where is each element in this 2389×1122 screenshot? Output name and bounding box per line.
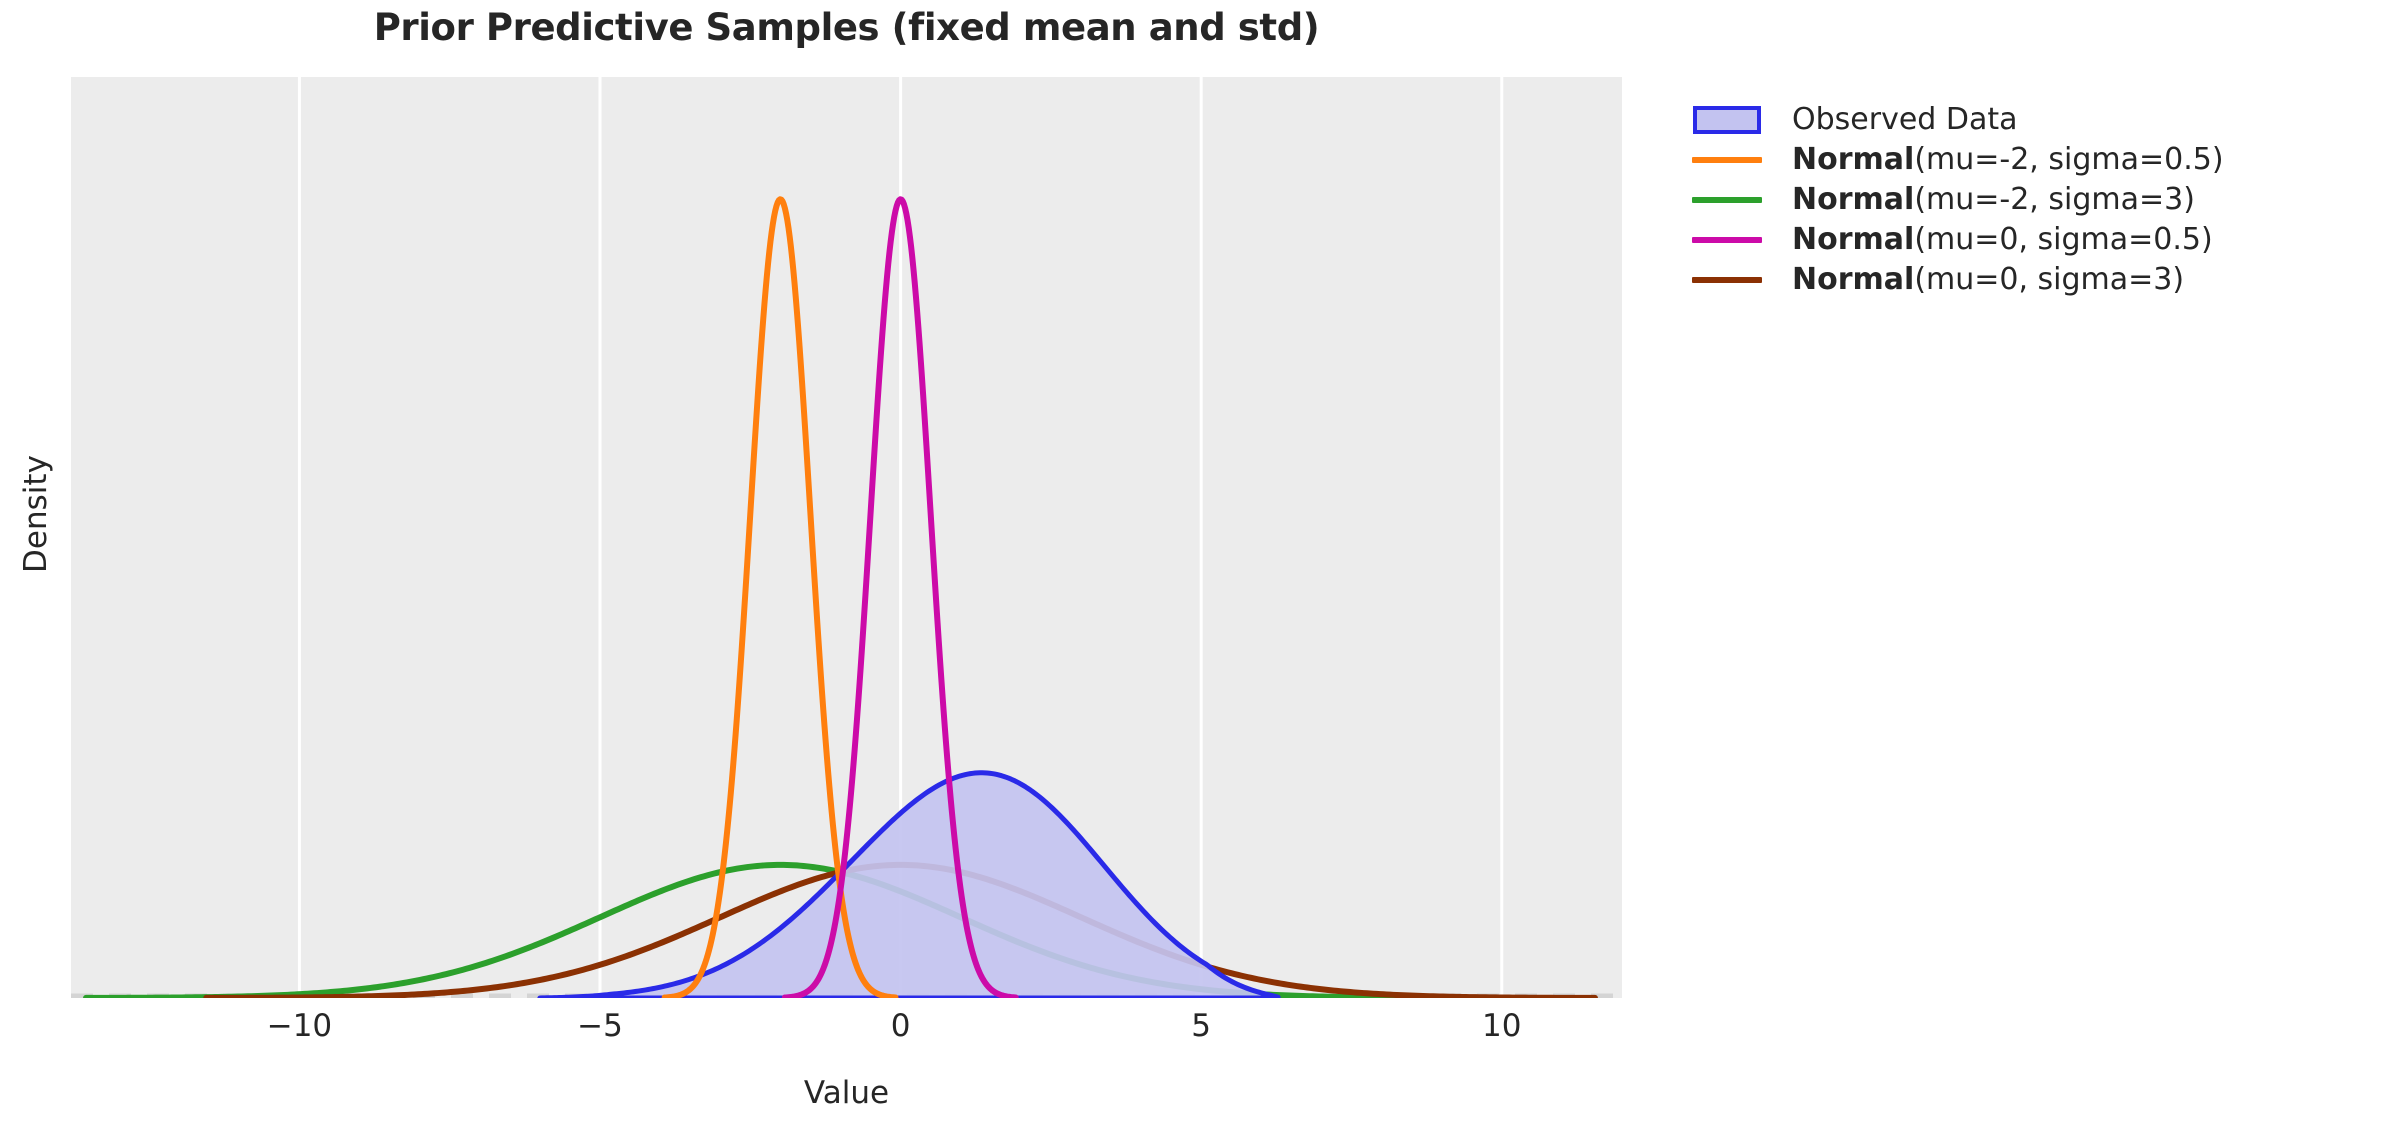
chart-legend: Observed DataNormal(mu=-2, sigma=0.5)Nor…	[1690, 100, 2350, 300]
x-axis-label: Value	[71, 1075, 1622, 1111]
legend-label-bold-prefix: Normal	[1792, 262, 1914, 297]
x-tick-label-2: 0	[891, 1008, 911, 1044]
legend-item-1[interactable]: Normal(mu=-2, sigma=0.5)	[1690, 140, 2350, 180]
y-axis-label: Density	[18, 414, 54, 614]
legend-item-3[interactable]: Normal(mu=0, sigma=0.5)	[1690, 220, 2350, 260]
x-tick-label-1: −5	[577, 1008, 623, 1044]
legend-label-params: (mu=0, sigma=3)	[1914, 262, 2184, 297]
legend-item-4[interactable]: Normal(mu=0, sigma=3)	[1690, 260, 2350, 300]
legend-item-0[interactable]: Observed Data	[1690, 100, 2350, 140]
legend-swatch-3	[1690, 225, 1764, 255]
legend-label-bold-prefix: Normal	[1792, 222, 1914, 257]
legend-label-2: Normal(mu=-2, sigma=3)	[1792, 185, 2195, 215]
legend-label-4: Normal(mu=0, sigma=3)	[1792, 265, 2184, 295]
legend-label-params: (mu=-2, sigma=3)	[1914, 182, 2195, 217]
legend-swatch-0	[1690, 105, 1764, 135]
legend-label-0: Observed Data	[1792, 105, 2018, 135]
legend-label-3: Normal(mu=0, sigma=0.5)	[1792, 225, 2213, 255]
legend-line-icon	[1692, 277, 1762, 283]
x-tick-label-4: 10	[1482, 1008, 1521, 1044]
legend-line-icon	[1692, 157, 1762, 163]
plot-svg	[71, 77, 1622, 998]
x-tick-label-3: 5	[1191, 1008, 1211, 1044]
legend-label-bold-prefix: Normal	[1792, 182, 1914, 217]
x-tick-label-0: −10	[267, 1008, 332, 1044]
legend-label-bold-prefix: Normal	[1792, 142, 1914, 177]
legend-line-icon	[1692, 197, 1762, 203]
legend-swatch-4	[1690, 265, 1764, 295]
chart-figure: Prior Predictive Samples (fixed mean and…	[0, 0, 2389, 1122]
legend-swatch-1	[1690, 145, 1764, 175]
legend-line-icon	[1692, 237, 1762, 243]
legend-item-2[interactable]: Normal(mu=-2, sigma=3)	[1690, 180, 2350, 220]
legend-label-params: (mu=-2, sigma=0.5)	[1914, 142, 2223, 177]
page-title: Prior Predictive Samples (fixed mean and…	[71, 6, 1622, 49]
legend-label-1: Normal(mu=-2, sigma=0.5)	[1792, 145, 2224, 175]
legend-label-params: (mu=0, sigma=0.5)	[1914, 222, 2212, 257]
legend-patch-icon	[1693, 106, 1761, 134]
plot-area	[71, 77, 1622, 998]
legend-swatch-2	[1690, 185, 1764, 215]
